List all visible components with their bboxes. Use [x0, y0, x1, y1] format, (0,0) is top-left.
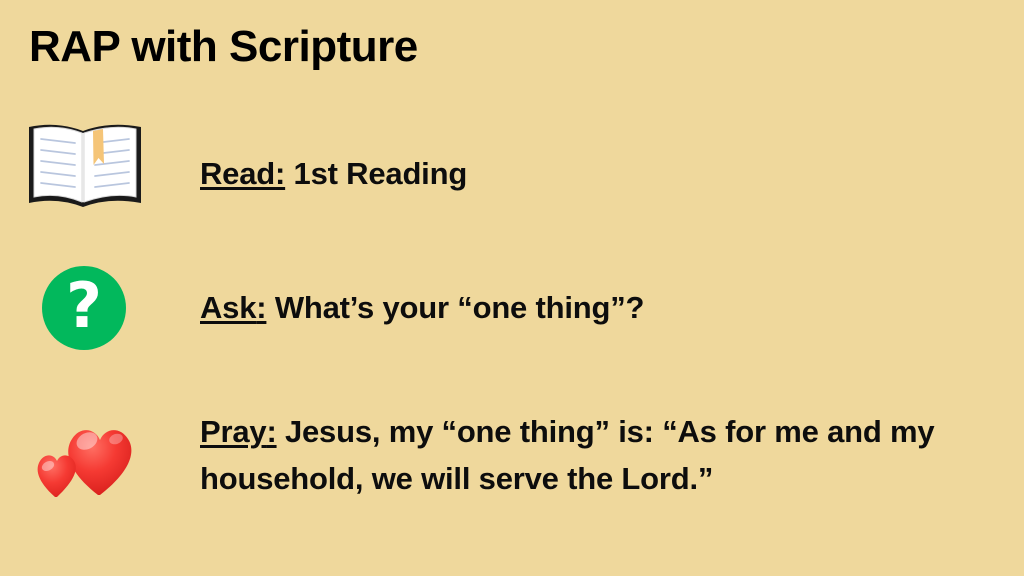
rap-keyword-ask: Ask: [200, 290, 256, 325]
rap-keyword-read: Read: [200, 156, 275, 191]
rap-text-ask: Ask: What’s your “one thing”?: [200, 262, 644, 331]
rap-separator-pray: :: [266, 414, 276, 449]
open-book-icon: [25, 117, 145, 213]
rap-row-ask: ? Ask: What’s your “one thing”?: [0, 262, 1024, 362]
icon-cell-read: [0, 112, 200, 212]
two-hearts-icon: [28, 413, 148, 501]
icon-cell-pray: [0, 405, 200, 505]
rap-body-read: 1st Reading: [285, 156, 467, 191]
question-mark-icon: ?: [42, 266, 126, 350]
rap-text-read: Read: 1st Reading: [200, 112, 467, 197]
rap-separator-ask: :: [256, 290, 266, 325]
slide-canvas: RAP with Scripture: [0, 0, 1024, 576]
rap-body-pray: Jesus, my “one thing” is: “As for me and…: [200, 414, 934, 496]
rap-body-ask: What’s your “one thing”?: [266, 290, 644, 325]
rap-keyword-pray: Pray: [200, 414, 266, 449]
icon-cell-ask: ?: [0, 262, 200, 362]
rap-row-read: Read: 1st Reading: [0, 112, 1024, 212]
page-title: RAP with Scripture: [29, 22, 418, 73]
rap-separator-read: :: [275, 156, 285, 191]
rap-text-pray: Pray: Jesus, my “one thing” is: “As for …: [200, 405, 945, 502]
question-mark-glyph: ?: [66, 275, 102, 337]
rap-row-pray: Pray: Jesus, my “one thing” is: “As for …: [0, 405, 1024, 505]
